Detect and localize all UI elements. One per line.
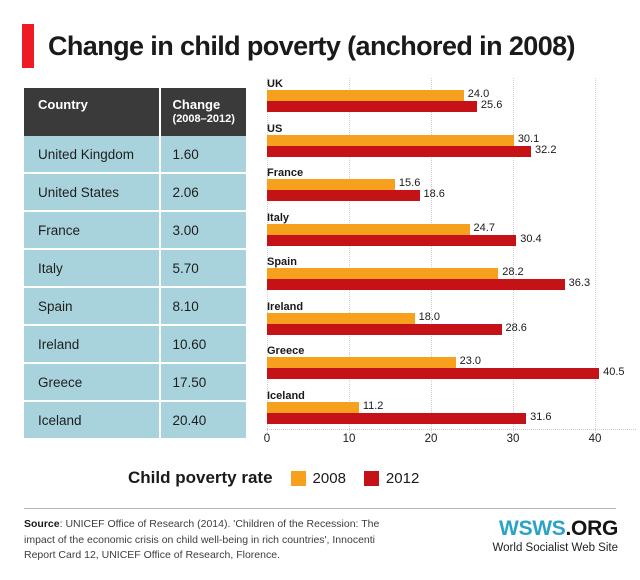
table-cell-change: 20.40: [160, 401, 246, 438]
bar-group-label: France: [267, 167, 636, 179]
bar-group-ireland: Ireland18.028.6: [258, 301, 636, 335]
bar-row-2008: 30.1: [267, 135, 636, 146]
source-label: Source: [24, 518, 60, 530]
bar-2012-italy: [267, 235, 516, 246]
bar-2008-spain: [267, 268, 498, 279]
table-row: Spain8.10: [24, 287, 246, 325]
footer-divider: [24, 508, 616, 509]
bar-2012-greece: [267, 368, 599, 379]
bar-group-uk: UK24.025.6: [258, 78, 636, 112]
table-cell-country: Italy: [24, 249, 160, 287]
logo-wordmark: WSWS.ORG: [493, 518, 618, 540]
bar-row-2012: 28.6: [267, 324, 636, 335]
bar-value-label: 28.6: [502, 322, 527, 334]
bar-row-2012: 36.3: [267, 279, 636, 290]
bar-group-label: Greece: [267, 345, 636, 357]
axis-tick-label: 30: [507, 433, 520, 445]
bar-row-2008: 18.0: [267, 313, 636, 324]
bar-row-2008: 24.0: [267, 90, 636, 101]
logo-tagline: World Socialist Web Site: [493, 542, 618, 554]
chart-legend: Child poverty rate 2008 2012: [128, 468, 427, 488]
bar-row-2012: 40.5: [267, 368, 636, 379]
table-cell-country: United States: [24, 173, 160, 211]
table-row: Ireland10.60: [24, 325, 246, 363]
bar-value-label: 36.3: [565, 277, 590, 289]
bar-2008-us: [267, 135, 514, 146]
table-row: Italy5.70: [24, 249, 246, 287]
table-header-change: Change (2008–2012): [160, 88, 246, 136]
bar-value-label: 30.4: [516, 233, 541, 245]
chart-x-axis: 010203040: [258, 433, 636, 451]
source-text: : UNICEF Office of Research (2014). 'Chi…: [24, 518, 379, 561]
bar-2008-ireland: [267, 313, 415, 324]
table-row: United States2.06: [24, 173, 246, 211]
table-cell-change: 10.60: [160, 325, 246, 363]
bar-row-2012: 18.6: [267, 190, 636, 201]
bar-value-label: 24.7: [470, 222, 495, 234]
table-row: United Kingdom1.60: [24, 136, 246, 173]
country-change-table: Country Change (2008–2012) United Kingdo…: [24, 88, 246, 438]
table-row: France3.00: [24, 211, 246, 249]
bar-row-2008: 23.0: [267, 357, 636, 368]
table-header-change-line1: Change: [173, 97, 221, 112]
bar-group-france: France15.618.6: [258, 167, 636, 201]
bar-group-label: Ireland: [267, 301, 636, 313]
bar-value-label: 28.2: [498, 266, 523, 278]
table-cell-change: 2.06: [160, 173, 246, 211]
bar-value-label: 31.6: [526, 411, 551, 423]
bar-2012-ireland: [267, 324, 502, 335]
logo-wsws-text: WSWS: [499, 517, 565, 540]
bar-2008-france: [267, 179, 395, 190]
bar-group-greece: Greece23.040.5: [258, 345, 636, 379]
page-title: Change in child poverty (anchored in 200…: [22, 24, 575, 68]
chart-plot-area: UK24.025.6US30.132.2France15.618.6Italy2…: [258, 78, 636, 433]
bar-2008-italy: [267, 224, 470, 235]
bar-2008-greece: [267, 357, 456, 368]
wsws-logo[interactable]: WSWS.ORG World Socialist Web Site: [493, 518, 618, 554]
bar-group-italy: Italy24.730.4: [258, 212, 636, 246]
bar-row-2008: 24.7: [267, 224, 636, 235]
bar-group-label: Italy: [267, 212, 636, 224]
table-header-row: Country Change (2008–2012): [24, 88, 246, 136]
bar-2008-iceland: [267, 402, 359, 413]
bar-2012-iceland: [267, 413, 526, 424]
bar-2012-france: [267, 190, 420, 201]
table-cell-country: Iceland: [24, 401, 160, 438]
table-cell-change: 5.70: [160, 249, 246, 287]
axis-baseline: [267, 429, 636, 430]
legend-item-2008: 2008: [291, 470, 346, 487]
bar-row-2012: 25.6: [267, 101, 636, 112]
table-header-country: Country: [24, 88, 160, 136]
axis-tick-label: 20: [425, 433, 438, 445]
table-cell-country: France: [24, 211, 160, 249]
bar-row-2012: 32.2: [267, 146, 636, 157]
bar-2012-spain: [267, 279, 565, 290]
bar-row-2008: 15.6: [267, 179, 636, 190]
bar-2012-us: [267, 146, 531, 157]
bar-value-label: 18.0: [415, 311, 440, 323]
bar-group-label: UK: [267, 78, 636, 90]
table-cell-change: 3.00: [160, 211, 246, 249]
bar-value-label: 25.6: [477, 99, 502, 111]
table-cell-country: Greece: [24, 363, 160, 401]
source-note: Source: UNICEF Office of Research (2014)…: [24, 517, 384, 564]
title-accent-bar: [22, 24, 34, 68]
bar-value-label: 40.5: [599, 366, 624, 378]
table-cell-change: 17.50: [160, 363, 246, 401]
bar-group-us: US30.132.2: [258, 123, 636, 157]
bar-row-2012: 30.4: [267, 235, 636, 246]
axis-tick-label: 0: [264, 433, 270, 445]
table-row: Iceland20.40: [24, 401, 246, 438]
axis-tick-label: 10: [343, 433, 356, 445]
legend-swatch-2012-icon: [364, 471, 379, 486]
table-cell-change: 1.60: [160, 136, 246, 173]
page-title-text: Change in child poverty (anchored in 200…: [48, 33, 575, 60]
legend-label-2012: 2012: [386, 470, 419, 487]
legend-swatch-2008-icon: [291, 471, 306, 486]
bar-2012-uk: [267, 101, 477, 112]
bar-group-label: Iceland: [267, 390, 636, 402]
bar-group-label: Spain: [267, 256, 636, 268]
bar-row-2008: 11.2: [267, 402, 636, 413]
bar-value-label: 15.6: [395, 177, 420, 189]
axis-tick-label: 40: [589, 433, 602, 445]
bar-value-label: 23.0: [456, 355, 481, 367]
bar-group-label: US: [267, 123, 636, 135]
table-cell-change: 8.10: [160, 287, 246, 325]
table-header-change-line2: (2008–2012): [173, 113, 246, 127]
bar-value-label: 11.2: [359, 400, 384, 412]
bar-value-label: 32.2: [531, 144, 556, 156]
table-cell-country: United Kingdom: [24, 136, 160, 173]
table-row: Greece17.50: [24, 363, 246, 401]
legend-title: Child poverty rate: [128, 468, 273, 488]
table-cell-country: Ireland: [24, 325, 160, 363]
legend-item-2012: 2012: [364, 470, 419, 487]
bar-row-2012: 31.6: [267, 413, 636, 424]
bar-value-label: 18.6: [420, 188, 445, 200]
logo-org-text: .ORG: [566, 517, 618, 540]
legend-label-2008: 2008: [313, 470, 346, 487]
bar-group-iceland: Iceland11.231.6: [258, 390, 636, 424]
bar-2008-uk: [267, 90, 464, 101]
child-poverty-bar-chart: UK24.025.6US30.132.2France15.618.6Italy2…: [258, 78, 636, 446]
bar-group-spain: Spain28.236.3: [258, 256, 636, 290]
table-cell-country: Spain: [24, 287, 160, 325]
